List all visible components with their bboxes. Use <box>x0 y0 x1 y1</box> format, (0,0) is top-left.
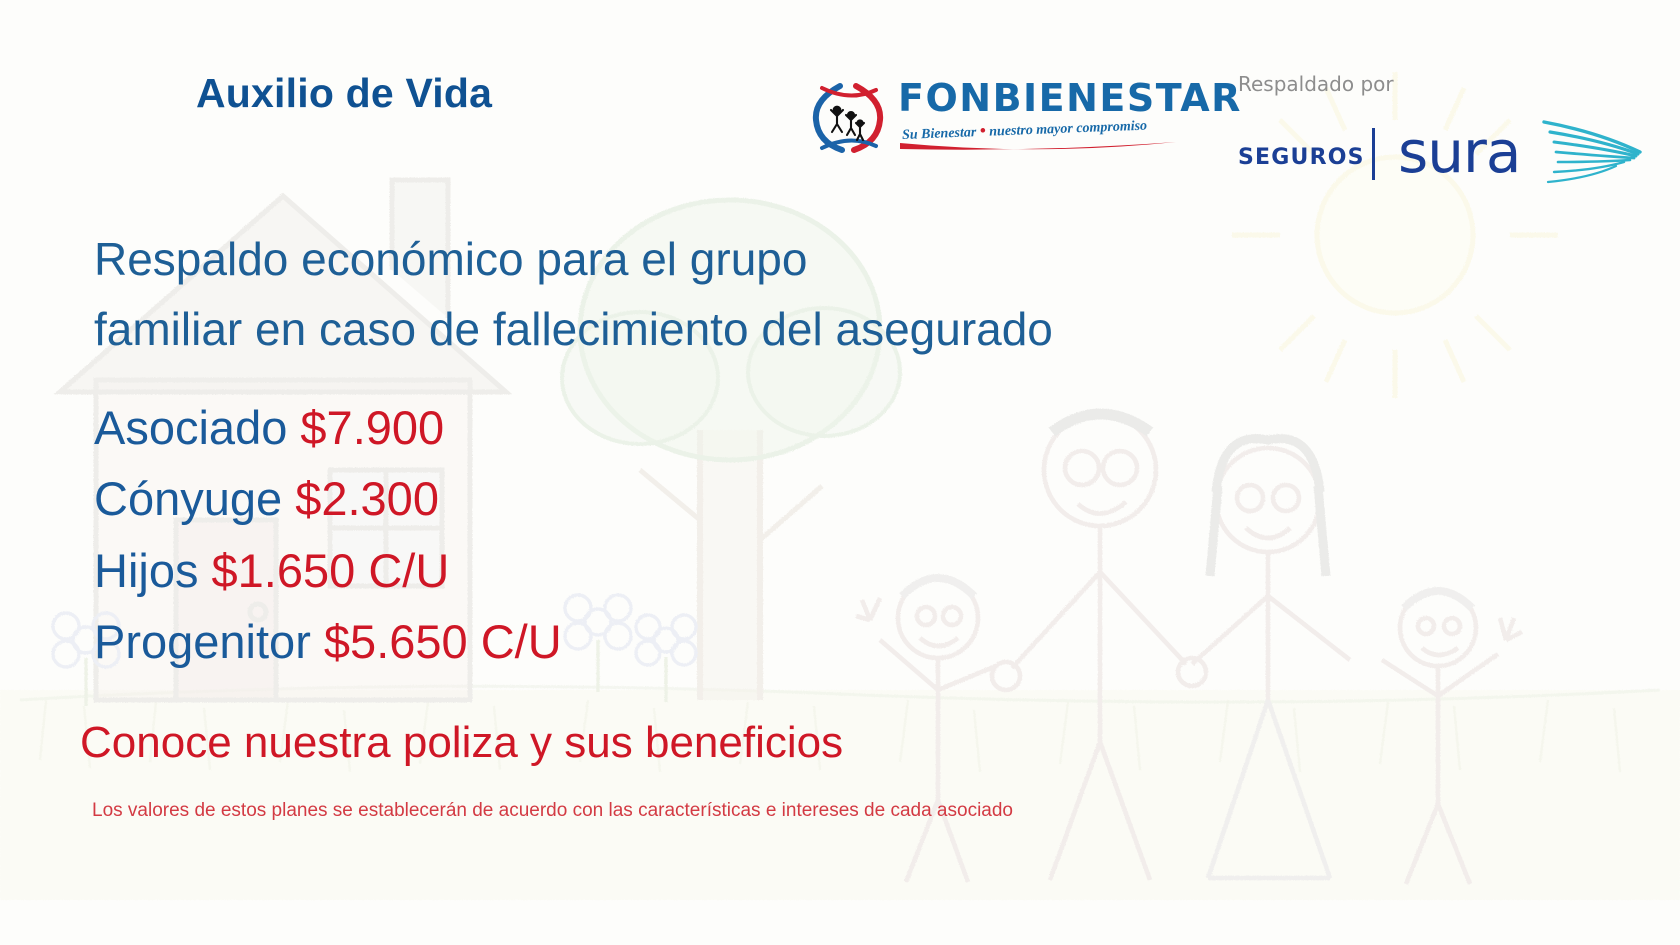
call-to-action-text: Conoce nuestra poliza y sus beneficios <box>80 718 843 768</box>
slide-canvas: Auxilio de Vida FONBIENESTAR Su Bienesta… <box>0 0 1680 945</box>
lead-line-2: familiar en caso de fallecimiento del as… <box>94 295 1053 365</box>
price-label: Progenitor <box>94 615 311 668</box>
lead-paragraph: Respaldo económico para el grupo familia… <box>94 225 1053 365</box>
price-value: $5.650 C/U <box>324 615 562 668</box>
price-label: Cónyuge <box>94 472 282 525</box>
sura-divider <box>1372 128 1375 180</box>
tagline-part-2: nuestro mayor compromiso <box>989 119 1147 140</box>
page-title: Auxilio de Vida <box>196 70 492 117</box>
price-value: $2.300 <box>295 472 439 525</box>
sura-wing-icon <box>1540 118 1650 188</box>
price-row: Cónyuge $2.300 <box>94 463 562 534</box>
disclaimer-text: Los valores de estos planes se establece… <box>92 800 1013 822</box>
price-row: Hijos $1.650 C/U <box>94 535 562 606</box>
price-label: Asociado <box>94 401 287 454</box>
tagline-bullet: • <box>979 121 986 140</box>
sura-wordmark: sura <box>1398 118 1520 186</box>
price-value: $1.650 C/U <box>212 544 450 597</box>
fonbienestar-wordmark: FONBIENESTAR <box>898 76 1242 120</box>
price-list: Asociado $7.900 Cónyuge $2.300 Hijos $1.… <box>94 392 562 678</box>
fonbienestar-emblem-icon <box>810 82 886 154</box>
price-label: Hijos <box>94 544 198 597</box>
fonbienestar-red-swoosh-icon <box>898 140 1178 154</box>
lead-line-1: Respaldo económico para el grupo <box>94 225 1053 295</box>
respaldado-por-label: Respaldado por <box>1238 72 1394 96</box>
seguros-label: SEGUROS <box>1238 145 1365 170</box>
fonbienestar-logo: FONBIENESTAR Su Bienestar • nuestro mayo… <box>810 78 1170 158</box>
price-row: Progenitor $5.650 C/U <box>94 606 562 677</box>
price-value: $7.900 <box>300 401 444 454</box>
price-row: Asociado $7.900 <box>94 392 562 463</box>
